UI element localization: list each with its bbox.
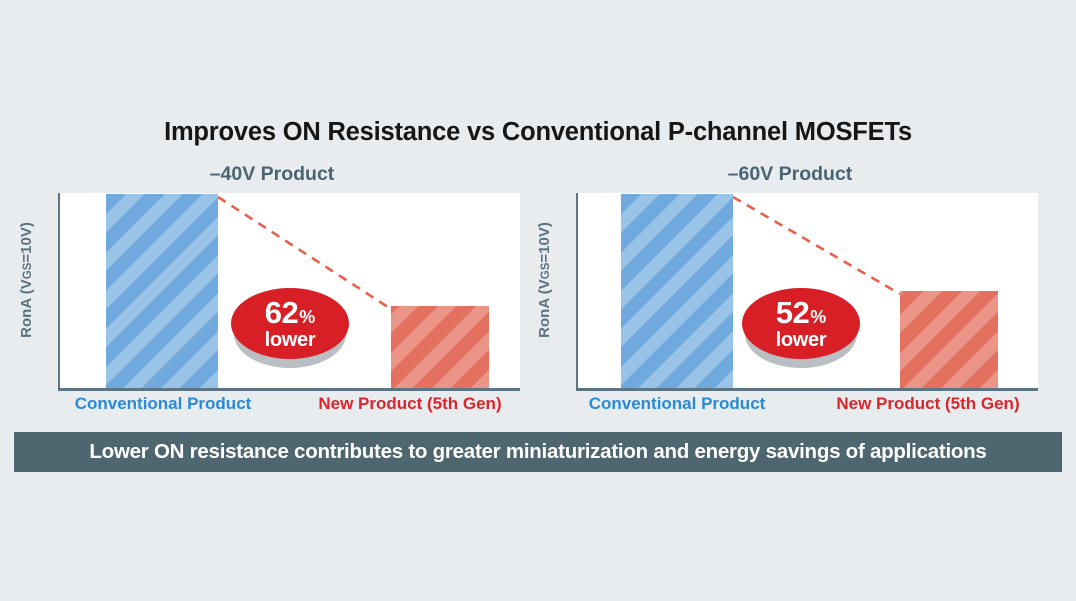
y-axis-label-tail: =10V) — [18, 222, 35, 262]
chart-subtitle-40v: –40V Product — [22, 163, 522, 186]
x-label-new-product-40v: New Product (5th Gen) — [300, 394, 520, 414]
y-axis-label-subscript: GS — [540, 263, 552, 280]
badge-percent-symbol: % — [810, 308, 826, 326]
chart-panel-40v: –40V Product RonA (VGS=10V) 62 % l — [22, 163, 522, 418]
reduction-badge-40v: 62 % lower — [231, 288, 349, 370]
reduction-badge-60v: 52 % lower — [742, 288, 860, 370]
x-label-new-product-60v: New Product (5th Gen) — [818, 394, 1038, 414]
x-label-conventional-40v: Conventional Product — [58, 394, 268, 414]
bar-conventional-60v — [621, 194, 733, 388]
page-title: Improves ON Resistance vs Conventional P… — [0, 118, 1076, 147]
badge-face: 52 % lower — [742, 288, 860, 359]
y-axis-label-tail: =10V) — [536, 222, 553, 262]
summary-banner-text: Lower ON resistance contributes to great… — [89, 440, 986, 464]
x-label-conventional-60v: Conventional Product — [572, 394, 782, 414]
y-axis-label-subscript: GS — [22, 263, 34, 280]
badge-percent-number: 52 — [776, 297, 809, 328]
bar-new-product-40v — [391, 306, 489, 388]
badge-percent-symbol: % — [299, 308, 315, 326]
chart-panel-60v: –60V Product RonA (VGS=10V) 52 % l — [540, 163, 1040, 418]
x-axis-labels-60v: Conventional Product New Product (5th Ge… — [576, 394, 1038, 418]
bar-conventional-40v — [106, 194, 218, 388]
y-axis-label-60v: RonA (VGS=10V) — [536, 195, 560, 365]
badge-lower-word: lower — [776, 330, 827, 350]
bar-group-60v: 52 % lower — [578, 193, 1038, 388]
badge-percent-number: 62 — [265, 297, 298, 328]
badge-lower-word: lower — [265, 330, 316, 350]
x-axis-labels-40v: Conventional Product New Product (5th Ge… — [58, 394, 520, 418]
chart-subtitle-60v: –60V Product — [540, 163, 1040, 186]
badge-percent-row: 52 % — [776, 297, 827, 328]
y-axis-label-40v: RonA (VGS=10V) — [18, 195, 42, 365]
badge-face: 62 % lower — [231, 288, 349, 359]
y-axis-label-main: RonA (V — [18, 279, 35, 338]
plot-area-40v: 62 % lower — [58, 193, 520, 391]
badge-percent-row: 62 % — [265, 297, 316, 328]
summary-banner: Lower ON resistance contributes to great… — [14, 432, 1062, 472]
y-axis-label-main: RonA (V — [536, 279, 553, 338]
bar-new-product-60v — [900, 291, 998, 388]
infographic-canvas: Improves ON Resistance vs Conventional P… — [0, 0, 1076, 601]
plot-area-60v: 52 % lower — [576, 193, 1038, 391]
bar-group-40v: 62 % lower — [60, 193, 520, 388]
